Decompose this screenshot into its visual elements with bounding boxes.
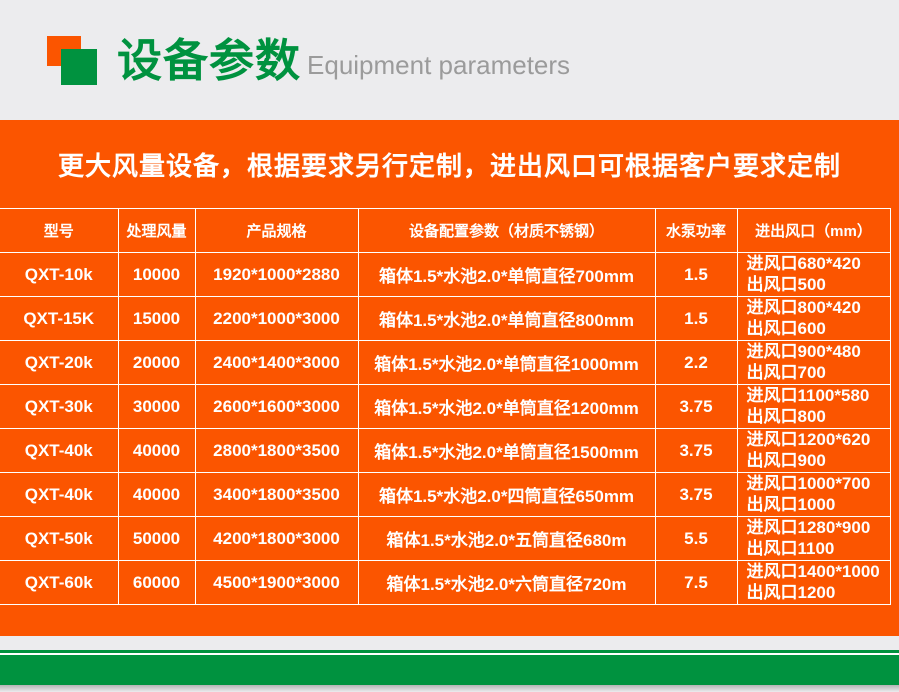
logo-mark-icon: [47, 36, 105, 88]
footer-shadow: [0, 685, 899, 692]
section-header: 设备参数 Equipment parameters: [0, 0, 899, 120]
cell-size: 2400*1400*3000: [195, 341, 358, 385]
table-row: QXT-30k 30000 2600*1600*3000 箱体1.5*水池2.0…: [0, 385, 890, 429]
cell-vent-inlet: 进风口800*420: [747, 298, 889, 318]
cell-vent-inlet: 进风口1400*1000: [747, 562, 889, 582]
spec-panel: 更大风量设备，根据要求另行定制，进出风口可根据客户要求定制 型号 处理风量 产品…: [0, 120, 899, 636]
cell-airflow: 40000: [118, 429, 195, 473]
cell-config: 箱体1.5*水池2.0*单筒直径800mm: [358, 297, 655, 341]
cell-airflow: 10000: [118, 253, 195, 297]
page-title: 设备参数: [117, 38, 301, 83]
cell-vent: 进风口900*480 出风口700: [737, 341, 890, 385]
cell-airflow: 40000: [118, 473, 195, 517]
cell-vent-outlet: 出风口1100: [747, 539, 889, 559]
cell-vent: 进风口680*420 出风口500: [737, 253, 890, 297]
cell-size: 2800*1800*3500: [195, 429, 358, 473]
cell-model: QXT-15K: [0, 297, 118, 341]
cell-model: QXT-40k: [0, 473, 118, 517]
cell-config: 箱体1.5*水池2.0*六筒直径720m: [358, 561, 655, 605]
cell-vent-inlet: 进风口1000*700: [747, 474, 889, 494]
cell-size: 3400*1800*3500: [195, 473, 358, 517]
cell-vent-outlet: 出风口500: [747, 275, 889, 295]
column-header-model: 型号: [0, 209, 118, 253]
footer-green-bar: [0, 655, 899, 685]
cell-pump: 5.5: [655, 517, 737, 561]
table-body: QXT-10k 10000 1920*1000*2880 箱体1.5*水池2.0…: [0, 253, 890, 605]
table-header: 型号 处理风量 产品规格 设备配置参数（材质不锈钢） 水泵功率 进出风口（mm）: [0, 209, 890, 253]
cell-vent-outlet: 出风口900: [747, 451, 889, 471]
table-row: QXT-60k 60000 4500*1900*3000 箱体1.5*水池2.0…: [0, 561, 890, 605]
cell-vent-inlet: 进风口1200*620: [747, 430, 889, 450]
cell-model: QXT-60k: [0, 561, 118, 605]
cell-config: 箱体1.5*水池2.0*单筒直径700mm: [358, 253, 655, 297]
cell-size: 4200*1800*3000: [195, 517, 358, 561]
cell-size: 2200*1000*3000: [195, 297, 358, 341]
cell-config: 箱体1.5*水池2.0*单筒直径1200mm: [358, 385, 655, 429]
cell-airflow: 50000: [118, 517, 195, 561]
cell-config: 箱体1.5*水池2.0*单筒直径1500mm: [358, 429, 655, 473]
cell-airflow: 60000: [118, 561, 195, 605]
cell-model: QXT-10k: [0, 253, 118, 297]
cell-model: QXT-30k: [0, 385, 118, 429]
cell-model: QXT-50k: [0, 517, 118, 561]
page-root: 设备参数 Equipment parameters 更大风量设备，根据要求另行定…: [0, 0, 899, 692]
cell-pump: 1.5: [655, 297, 737, 341]
cell-vent: 进风口1200*620 出风口900: [737, 429, 890, 473]
column-header-pump: 水泵功率: [655, 209, 737, 253]
cell-airflow: 30000: [118, 385, 195, 429]
cell-airflow: 15000: [118, 297, 195, 341]
cell-config: 箱体1.5*水池2.0*四筒直径650mm: [358, 473, 655, 517]
page-subtitle: Equipment parameters: [307, 52, 570, 78]
cell-vent-outlet: 出风口800: [747, 407, 889, 427]
cell-vent: 进风口1100*580 出风口800: [737, 385, 890, 429]
logo-green-square-icon: [61, 49, 97, 85]
cell-model: QXT-40k: [0, 429, 118, 473]
equipment-spec-table: 型号 处理风量 产品规格 设备配置参数（材质不锈钢） 水泵功率 进出风口（mm）…: [0, 208, 891, 605]
cell-pump: 2.2: [655, 341, 737, 385]
column-header-vent: 进出风口（mm）: [737, 209, 890, 253]
cell-model: QXT-20k: [0, 341, 118, 385]
cell-pump: 7.5: [655, 561, 737, 605]
cell-vent-outlet: 出风口1200: [747, 583, 889, 603]
column-header-size: 产品规格: [195, 209, 358, 253]
table-row: QXT-50k 50000 4200*1800*3000 箱体1.5*水池2.0…: [0, 517, 890, 561]
table-row: QXT-40k 40000 2800*1800*3500 箱体1.5*水池2.0…: [0, 429, 890, 473]
cell-vent: 进风口1000*700 出风口1000: [737, 473, 890, 517]
cell-size: 2600*1600*3000: [195, 385, 358, 429]
cell-pump: 3.75: [655, 473, 737, 517]
cell-vent-inlet: 进风口900*480: [747, 342, 889, 362]
cell-vent: 进风口1280*900 出风口1100: [737, 517, 890, 561]
cell-vent-outlet: 出风口1000: [747, 495, 889, 515]
cell-config: 箱体1.5*水池2.0*五筒直径680m: [358, 517, 655, 561]
cell-config: 箱体1.5*水池2.0*单筒直径1000mm: [358, 341, 655, 385]
column-header-airflow: 处理风量: [118, 209, 195, 253]
cell-pump: 3.75: [655, 429, 737, 473]
cell-vent-outlet: 出风口600: [747, 319, 889, 339]
cell-size: 1920*1000*2880: [195, 253, 358, 297]
cell-vent-outlet: 出风口700: [747, 363, 889, 383]
table-row: QXT-15K 15000 2200*1000*3000 箱体1.5*水池2.0…: [0, 297, 890, 341]
cell-vent: 进风口800*420 出风口600: [737, 297, 890, 341]
cell-pump: 1.5: [655, 253, 737, 297]
cell-size: 4500*1900*3000: [195, 561, 358, 605]
cell-vent-inlet: 进风口680*420: [747, 254, 889, 274]
cell-vent-inlet: 进风口1100*580: [747, 386, 889, 406]
footer-gap-strip: [0, 636, 899, 650]
custom-order-banner: 更大风量设备，根据要求另行定制，进出风口可根据客户要求定制: [0, 120, 899, 208]
table-row: QXT-40k 40000 3400*1800*3500 箱体1.5*水池2.0…: [0, 473, 890, 517]
table-header-row: 型号 处理风量 产品规格 设备配置参数（材质不锈钢） 水泵功率 进出风口（mm）: [0, 209, 890, 253]
cell-vent: 进风口1400*1000 出风口1200: [737, 561, 890, 605]
cell-pump: 3.75: [655, 385, 737, 429]
cell-vent-inlet: 进风口1280*900: [747, 518, 889, 538]
column-header-config: 设备配置参数（材质不锈钢）: [358, 209, 655, 253]
table-row: QXT-20k 20000 2400*1400*3000 箱体1.5*水池2.0…: [0, 341, 890, 385]
cell-airflow: 20000: [118, 341, 195, 385]
table-row: QXT-10k 10000 1920*1000*2880 箱体1.5*水池2.0…: [0, 253, 890, 297]
